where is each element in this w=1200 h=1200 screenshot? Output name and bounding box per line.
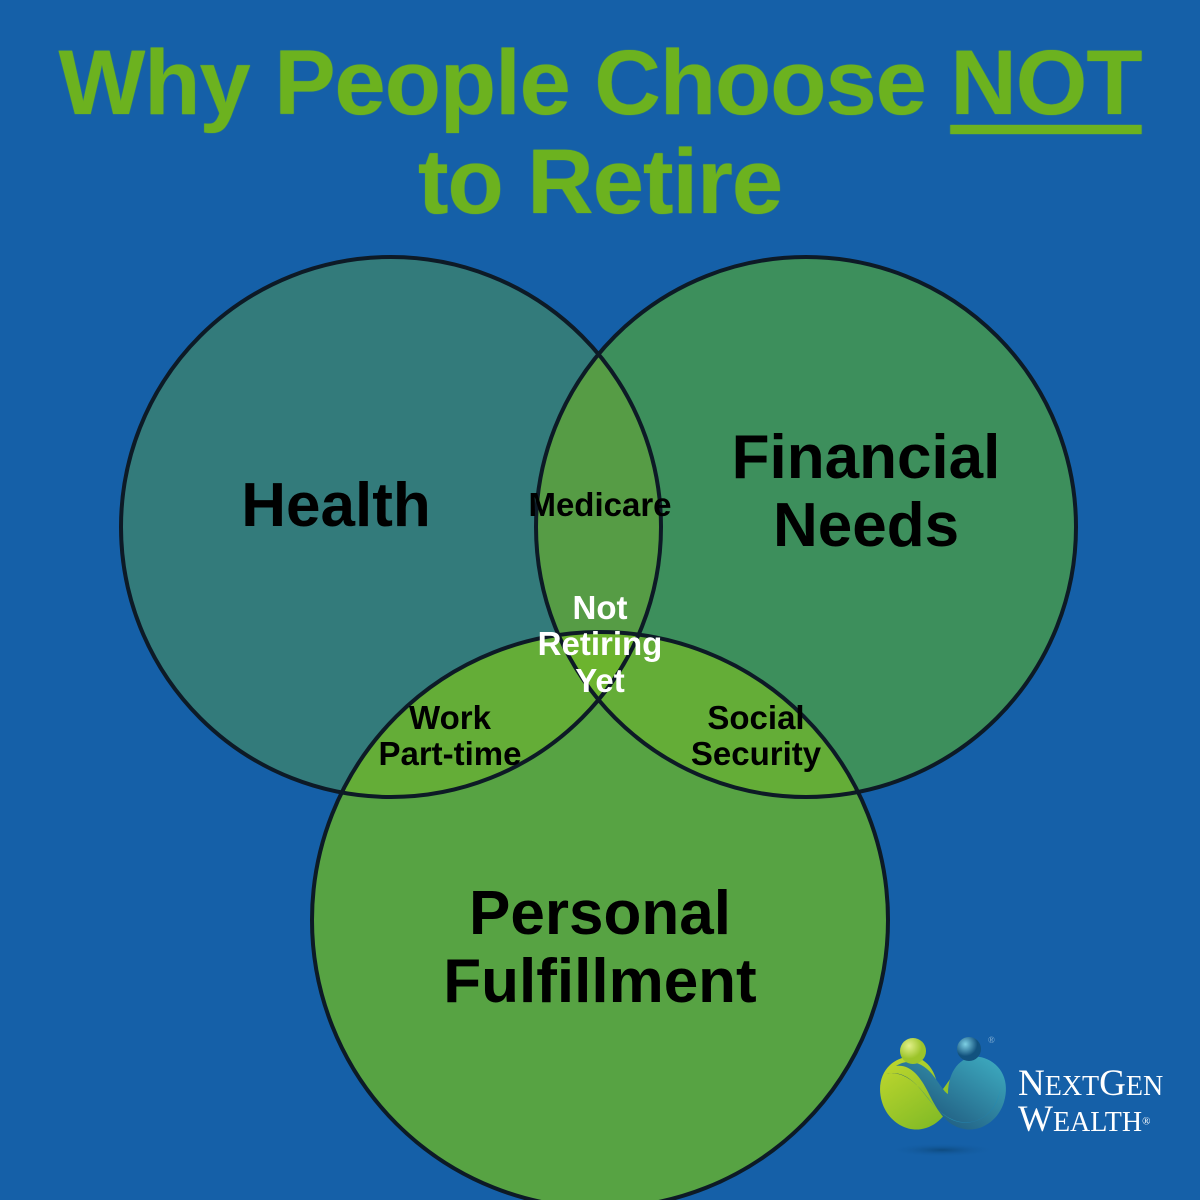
- brand-logo: ® NEXTGEN WEALTH®: [872, 1030, 1172, 1170]
- brand-g: G: [1099, 1063, 1126, 1104]
- logo-mark-registered: ®: [988, 1035, 995, 1045]
- brand-wordmark: NEXTGEN WEALTH®: [1018, 1066, 1163, 1137]
- infinity-ribbon-logo-icon: ®: [872, 1030, 1014, 1170]
- brand-wordmark-wealth: WEALTH®: [1018, 1102, 1163, 1138]
- brand-wordmark-nextgen: NEXTGEN: [1018, 1066, 1163, 1102]
- brand-en: EN: [1126, 1071, 1163, 1102]
- brand-ealth: EALTH: [1053, 1107, 1142, 1138]
- title-text-primary: Why People Choose: [58, 32, 950, 134]
- logo-dot-green: [900, 1038, 926, 1064]
- title-emphasis-not: NOT: [950, 32, 1141, 134]
- poster-canvas: Why People Choose NOT to Retire: [0, 0, 1200, 1200]
- brand-w: W: [1018, 1099, 1053, 1140]
- title-line-1: Why People Choose NOT: [0, 34, 1200, 133]
- page-title: Why People Choose NOT to Retire: [0, 34, 1200, 233]
- logo-shadow: [888, 1143, 996, 1157]
- title-line-2: to Retire: [0, 133, 1200, 232]
- brand-registered-mark: ®: [1142, 1116, 1150, 1128]
- brand-ext: EXT: [1045, 1071, 1099, 1102]
- logo-dot-blue: [957, 1037, 981, 1061]
